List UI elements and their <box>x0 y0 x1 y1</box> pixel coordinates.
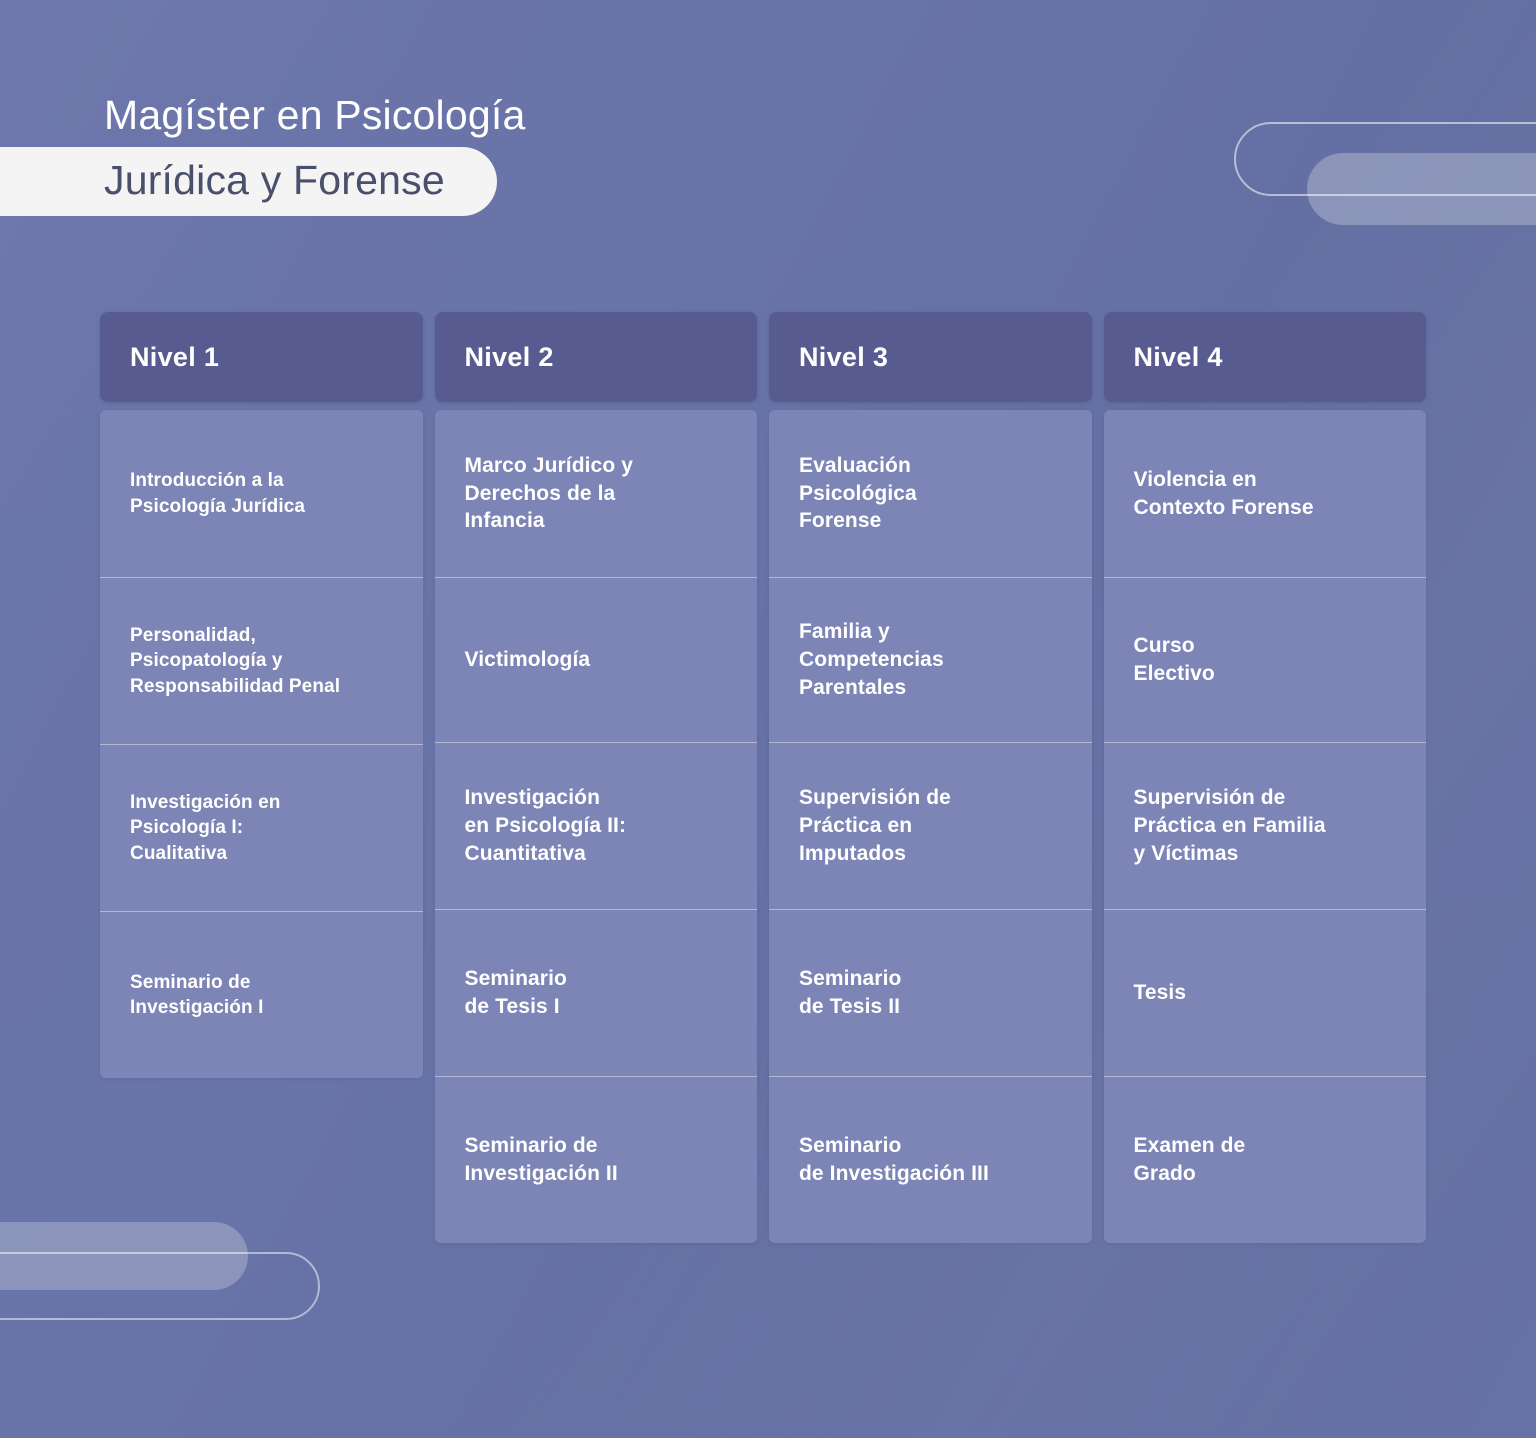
course-label: Curso Electivo <box>1134 632 1215 688</box>
course-cell[interactable]: Seminario de Investigación II <box>435 1076 758 1243</box>
course-label: Investigación en Psicología II: Cuantita… <box>465 784 627 868</box>
column-header-nivel-3: Nivel 3 <box>769 312 1092 402</box>
course-label: Seminario de Investigación II <box>465 1132 618 1188</box>
course-label: Seminario de Tesis I <box>465 965 567 1021</box>
course-cell[interactable]: Seminario de Tesis II <box>769 909 1092 1076</box>
column-header-nivel-1: Nivel 1 <box>100 312 423 402</box>
page-title-line-2: Jurídica y Forense <box>0 147 497 216</box>
course-label: Seminario de Tesis II <box>799 965 901 1021</box>
column-body-nivel-1: Introducción a la Psicología Jurídica Pe… <box>100 410 423 1078</box>
page-title: Magíster en Psicología Jurídica y Forens… <box>0 92 1536 216</box>
course-cell[interactable]: Seminario de Tesis I <box>435 909 758 1076</box>
course-label: Tesis <box>1134 979 1187 1007</box>
course-label: Introducción a la Psicología Jurídica <box>130 468 305 519</box>
curriculum-column-nivel-3: Nivel 3 Evaluación Psicológica Forense F… <box>769 312 1092 1243</box>
course-label: Supervisión de Práctica en Imputados <box>799 784 951 868</box>
column-header-nivel-2: Nivel 2 <box>435 312 758 402</box>
column-body-nivel-4: Violencia en Contexto Forense Curso Elec… <box>1104 410 1427 1243</box>
course-cell[interactable]: Familia y Competencias Parentales <box>769 577 1092 742</box>
course-cell[interactable]: Examen de Grado <box>1104 1076 1427 1243</box>
course-cell[interactable]: Marco Jurídico y Derechos de la Infancia <box>435 410 758 577</box>
course-cell[interactable]: Seminario de Investigación I <box>100 911 423 1078</box>
curriculum-column-nivel-4: Nivel 4 Violencia en Contexto Forense Cu… <box>1104 312 1427 1243</box>
course-cell[interactable]: Supervisión de Práctica en Imputados <box>769 742 1092 909</box>
course-cell[interactable]: Introducción a la Psicología Jurídica <box>100 410 423 577</box>
column-body-nivel-3: Evaluación Psicológica Forense Familia y… <box>769 410 1092 1243</box>
course-label: Victimología <box>465 646 591 674</box>
course-cell[interactable]: Seminario de Investigación III <box>769 1076 1092 1243</box>
course-label: Personalidad, Psicopatología y Responsab… <box>130 623 340 699</box>
curriculum-column-nivel-1: Nivel 1 Introducción a la Psicología Jur… <box>100 312 423 1078</box>
column-header-nivel-4: Nivel 4 <box>1104 312 1427 402</box>
course-label: Seminario de Investigación III <box>799 1132 989 1188</box>
course-cell[interactable]: Tesis <box>1104 909 1427 1076</box>
curriculum-column-nivel-2: Nivel 2 Marco Jurídico y Derechos de la … <box>435 312 758 1243</box>
course-cell[interactable]: Supervisión de Práctica en Familia y Víc… <box>1104 742 1427 909</box>
course-label: Violencia en Contexto Forense <box>1134 466 1314 522</box>
course-label: Examen de Grado <box>1134 1132 1246 1188</box>
course-cell[interactable]: Violencia en Contexto Forense <box>1104 410 1427 577</box>
course-cell[interactable]: Investigación en Psicología II: Cuantita… <box>435 742 758 909</box>
course-label: Marco Jurídico y Derechos de la Infancia <box>465 452 633 536</box>
course-label: Evaluación Psicológica Forense <box>799 452 917 536</box>
course-label: Supervisión de Práctica en Familia y Víc… <box>1134 784 1326 868</box>
course-label: Familia y Competencias Parentales <box>799 618 944 702</box>
column-body-nivel-2: Marco Jurídico y Derechos de la Infancia… <box>435 410 758 1243</box>
course-label: Seminario de Investigación I <box>130 970 263 1021</box>
course-label: Investigación en Psicología I: Cualitati… <box>130 790 280 866</box>
course-cell[interactable]: Victimología <box>435 577 758 742</box>
course-cell[interactable]: Investigación en Psicología I: Cualitati… <box>100 744 423 911</box>
page-title-line-1: Magíster en Psicología <box>0 92 1536 139</box>
course-cell[interactable]: Evaluación Psicológica Forense <box>769 410 1092 577</box>
course-cell[interactable]: Curso Electivo <box>1104 577 1427 742</box>
course-cell[interactable]: Personalidad, Psicopatología y Responsab… <box>100 577 423 744</box>
curriculum-grid: Nivel 1 Introducción a la Psicología Jur… <box>100 312 1426 1243</box>
